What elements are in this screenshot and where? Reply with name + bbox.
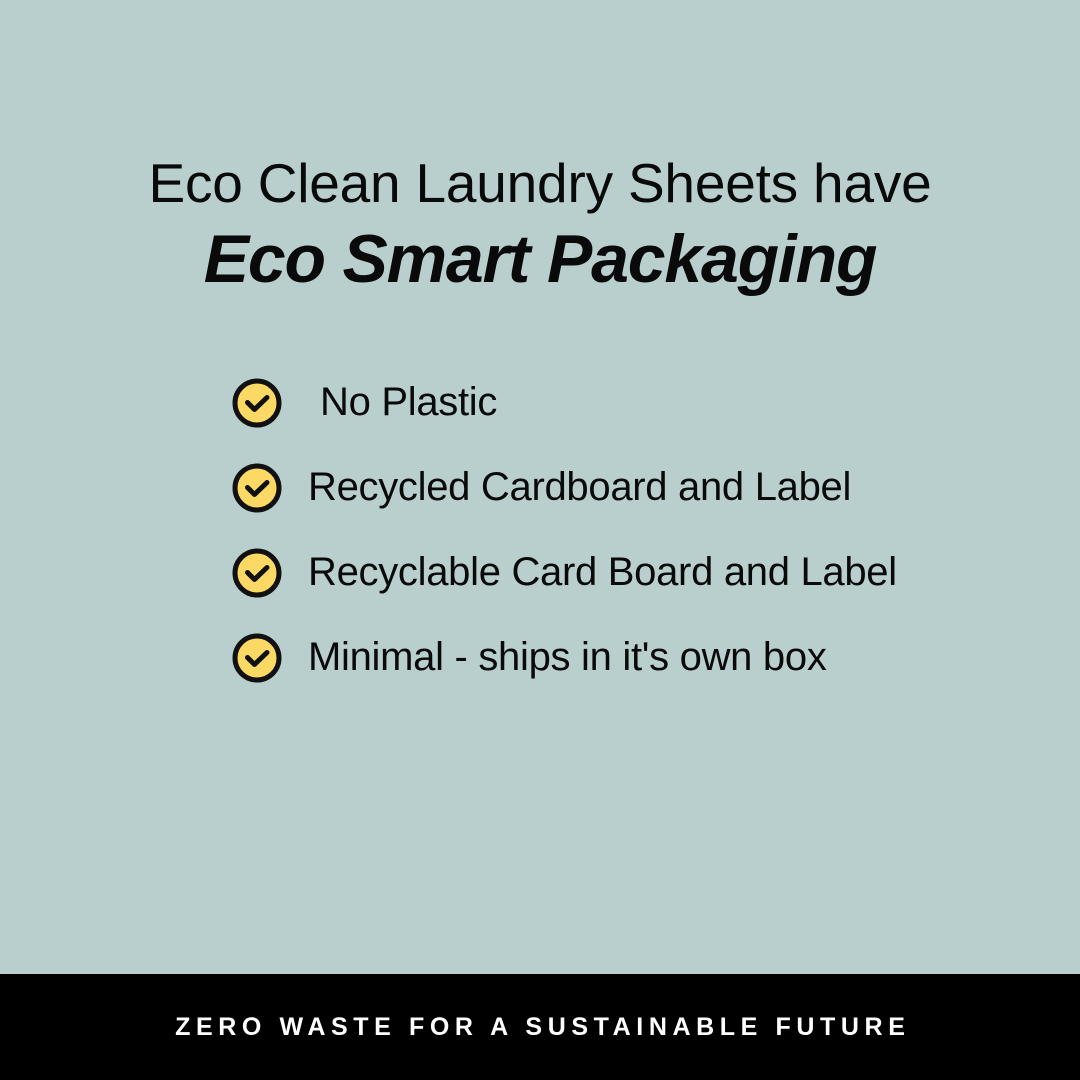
feature-item: Recyclable Card Board and Label: [232, 548, 1032, 598]
feature-item: Recycled Cardboard and Label: [232, 463, 1032, 513]
bottom-banner: ZERO WASTE FOR A SUSTAINABLE FUTURE: [0, 974, 1080, 1080]
feature-label: Minimal - ships in it's own box: [308, 632, 827, 682]
check-circle-icon: [232, 548, 282, 598]
feature-item: Minimal - ships in it's own box: [232, 633, 1032, 683]
headline-line-1: Eco Clean Laundry Sheets have: [0, 150, 1080, 216]
feature-label: Recyclable Card Board and Label: [308, 547, 897, 597]
feature-item: No Plastic: [232, 378, 1032, 428]
feature-label: No Plastic: [320, 377, 497, 427]
check-circle-icon: [232, 463, 282, 513]
banner-tagline: ZERO WASTE FOR A SUSTAINABLE FUTURE: [170, 1013, 911, 1042]
check-circle-icon: [232, 633, 282, 683]
feature-label: Recycled Cardboard and Label: [308, 462, 851, 512]
feature-list: No PlasticRecycled Cardboard and LabelRe…: [232, 378, 1032, 683]
headline-line-2: Eco Smart Packaging: [0, 218, 1080, 300]
promo-poster: Eco Clean Laundry Sheets have Eco Smart …: [0, 0, 1080, 1080]
check-circle-icon: [232, 378, 282, 428]
headline-block: Eco Clean Laundry Sheets have Eco Smart …: [0, 150, 1080, 300]
